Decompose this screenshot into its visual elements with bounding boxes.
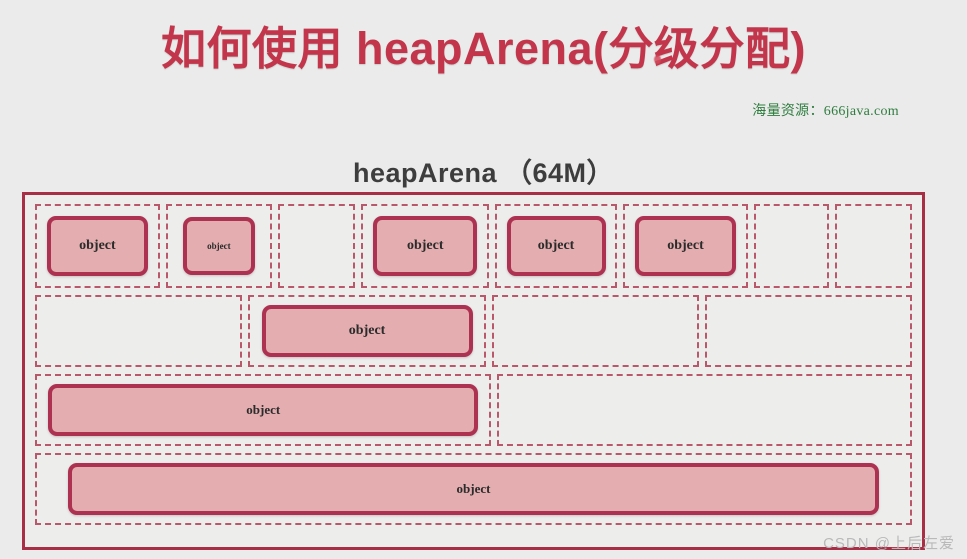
object-block: object <box>262 305 473 357</box>
object-block: object <box>47 216 148 275</box>
arena-row: objectobjectobjectobjectobject <box>35 204 912 288</box>
page-title: 如何使用 heapArena(分级分配) <box>161 12 806 77</box>
arena-row: object <box>35 453 912 525</box>
arena-cell-allocated: object <box>35 374 491 446</box>
arena-row: object <box>35 374 912 446</box>
csdn-watermark: CSDN @上后左爱 <box>823 532 955 553</box>
arena-cell-free <box>754 204 829 288</box>
object-block: object <box>373 216 477 275</box>
arena-cell-allocated: object <box>623 204 748 288</box>
arena-heading: heapArena （64M） <box>0 151 967 190</box>
arena-cell-free <box>705 295 912 367</box>
arena-cell-free <box>35 295 242 367</box>
source-watermark: 海量资源：666java.com <box>752 100 899 120</box>
arena-cell-allocated: object <box>248 295 486 367</box>
arena-cell-free <box>278 204 355 288</box>
object-block: object <box>48 384 478 436</box>
object-block: object <box>507 216 606 275</box>
arena-cell-allocated: object <box>166 204 272 288</box>
arena-cell-allocated: object <box>35 204 160 288</box>
object-block: object <box>183 217 254 275</box>
arena-cell-free <box>835 204 912 288</box>
heap-arena-frame: objectobjectobjectobjectobject object ob… <box>22 192 925 550</box>
arena-cell-allocated: object <box>495 204 617 288</box>
object-block: object <box>635 216 736 275</box>
title-bar: 如何使用 heapArena(分级分配) <box>0 0 967 88</box>
arena-row: object <box>35 295 912 367</box>
arena-cell-free <box>497 374 912 446</box>
arena-cell-allocated: object <box>361 204 489 288</box>
arena-cell-allocated: object <box>35 453 912 525</box>
arena-cell-free <box>492 295 699 367</box>
object-block: object <box>68 463 880 515</box>
cursor-dot-icon <box>654 55 661 64</box>
